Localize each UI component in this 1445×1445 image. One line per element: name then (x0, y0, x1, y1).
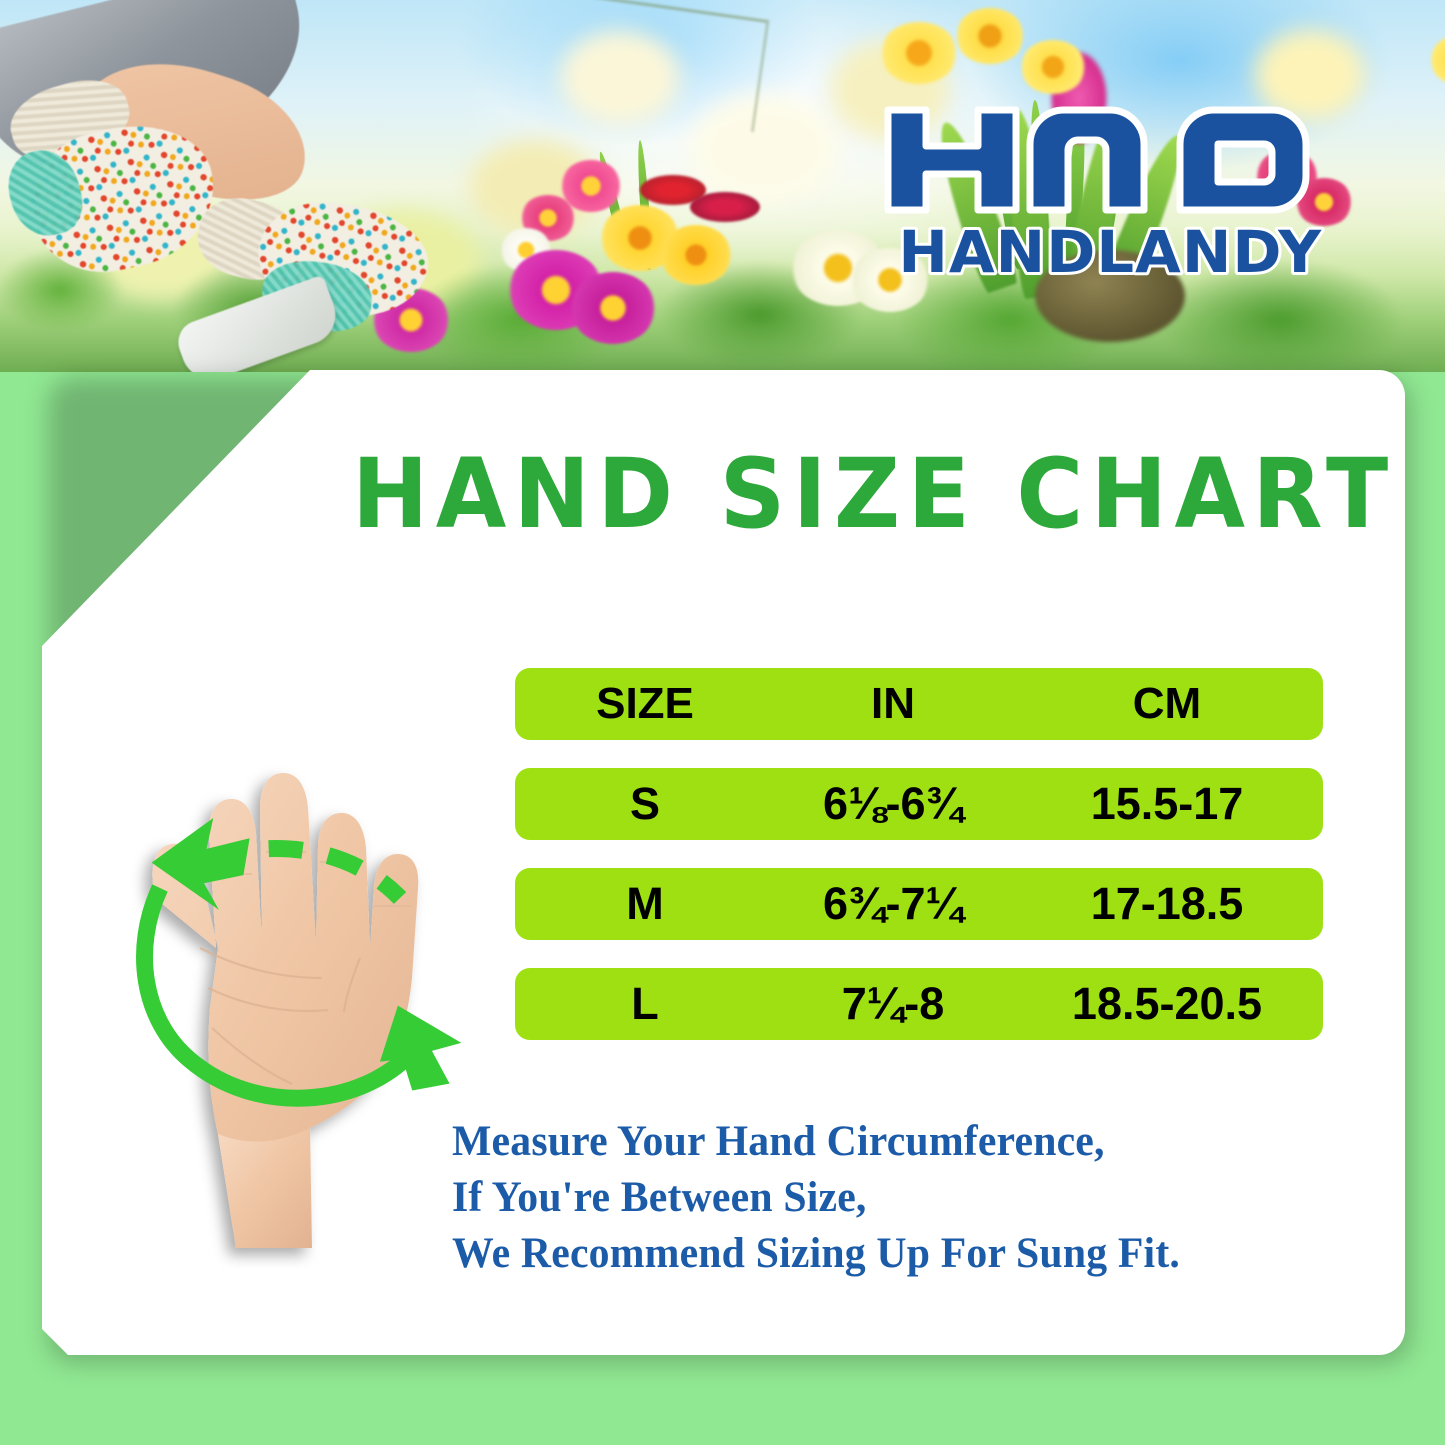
cell-cm: 17-18.5 (1031, 868, 1303, 940)
header-cm: CM (1031, 668, 1303, 740)
cell-cm: 18.5-20.5 (1031, 968, 1303, 1040)
cell-cm: 15.5-17 (1031, 768, 1303, 840)
size-chart-page: HANDLANDY HAND SIZE CHART (0, 0, 1445, 1445)
cell-in: 6¾-7¼ (753, 868, 1033, 940)
daffodil (880, 22, 958, 84)
table-row: M 6¾-7¼ 17-18.5 (515, 868, 1323, 940)
measurement-note: Measure Your Hand Circumference, If You'… (452, 1114, 1332, 1282)
table-row: S 6⅛-6¾ 15.5-17 (515, 768, 1323, 840)
header-in: IN (753, 668, 1033, 740)
logo-wordmark: HANDLANDY (898, 219, 1322, 282)
note-line-1: Measure Your Hand Circumference, (452, 1114, 1306, 1170)
cell-size: S (545, 768, 745, 840)
size-chart-table: SIZE IN CM S 6⅛-6¾ 15.5-17 M 6¾-7¼ 17-18… (515, 668, 1323, 1068)
note-line-3: We Recommend Sizing Up For Sung Fit. (452, 1226, 1306, 1282)
table-header-row: SIZE IN CM (515, 668, 1323, 740)
header-size: SIZE (545, 668, 745, 740)
page-title: HAND SIZE CHART (352, 441, 1423, 549)
cell-size: M (545, 868, 745, 940)
handlandy-logo: HANDLANDY (880, 92, 1350, 282)
note-line-2: If You're Between Size, (452, 1170, 1306, 1226)
hand-measure-illustration (60, 648, 490, 1268)
cell-in: 6⅛-6¾ (753, 768, 1033, 840)
daffodil (1020, 40, 1086, 94)
magenta-primrose (570, 272, 656, 344)
red-daisy (690, 192, 760, 222)
table-row: L 7¼-8 18.5-20.5 (515, 968, 1323, 1040)
yellow-primrose (660, 225, 732, 285)
hero-banner-image: HANDLANDY (0, 0, 1445, 372)
cell-size: L (545, 968, 745, 1040)
cell-in: 7¼-8 (753, 968, 1033, 1040)
daffodil (955, 8, 1025, 64)
